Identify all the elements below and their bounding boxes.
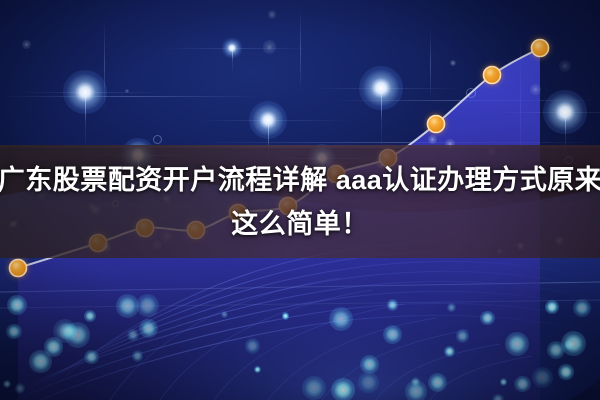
title-line-1: 广东股票配资开户流程详解 aaa认证办理方式原来 <box>0 158 600 202</box>
banner-image: 广东股票配资开户流程详解 aaa认证办理方式原来 这么简单！ <box>0 0 600 400</box>
title-line-2: 这么简单！ <box>231 202 369 246</box>
banner-title: 广东股票配资开户流程详解 aaa认证办理方式原来 这么简单！ <box>0 150 600 254</box>
